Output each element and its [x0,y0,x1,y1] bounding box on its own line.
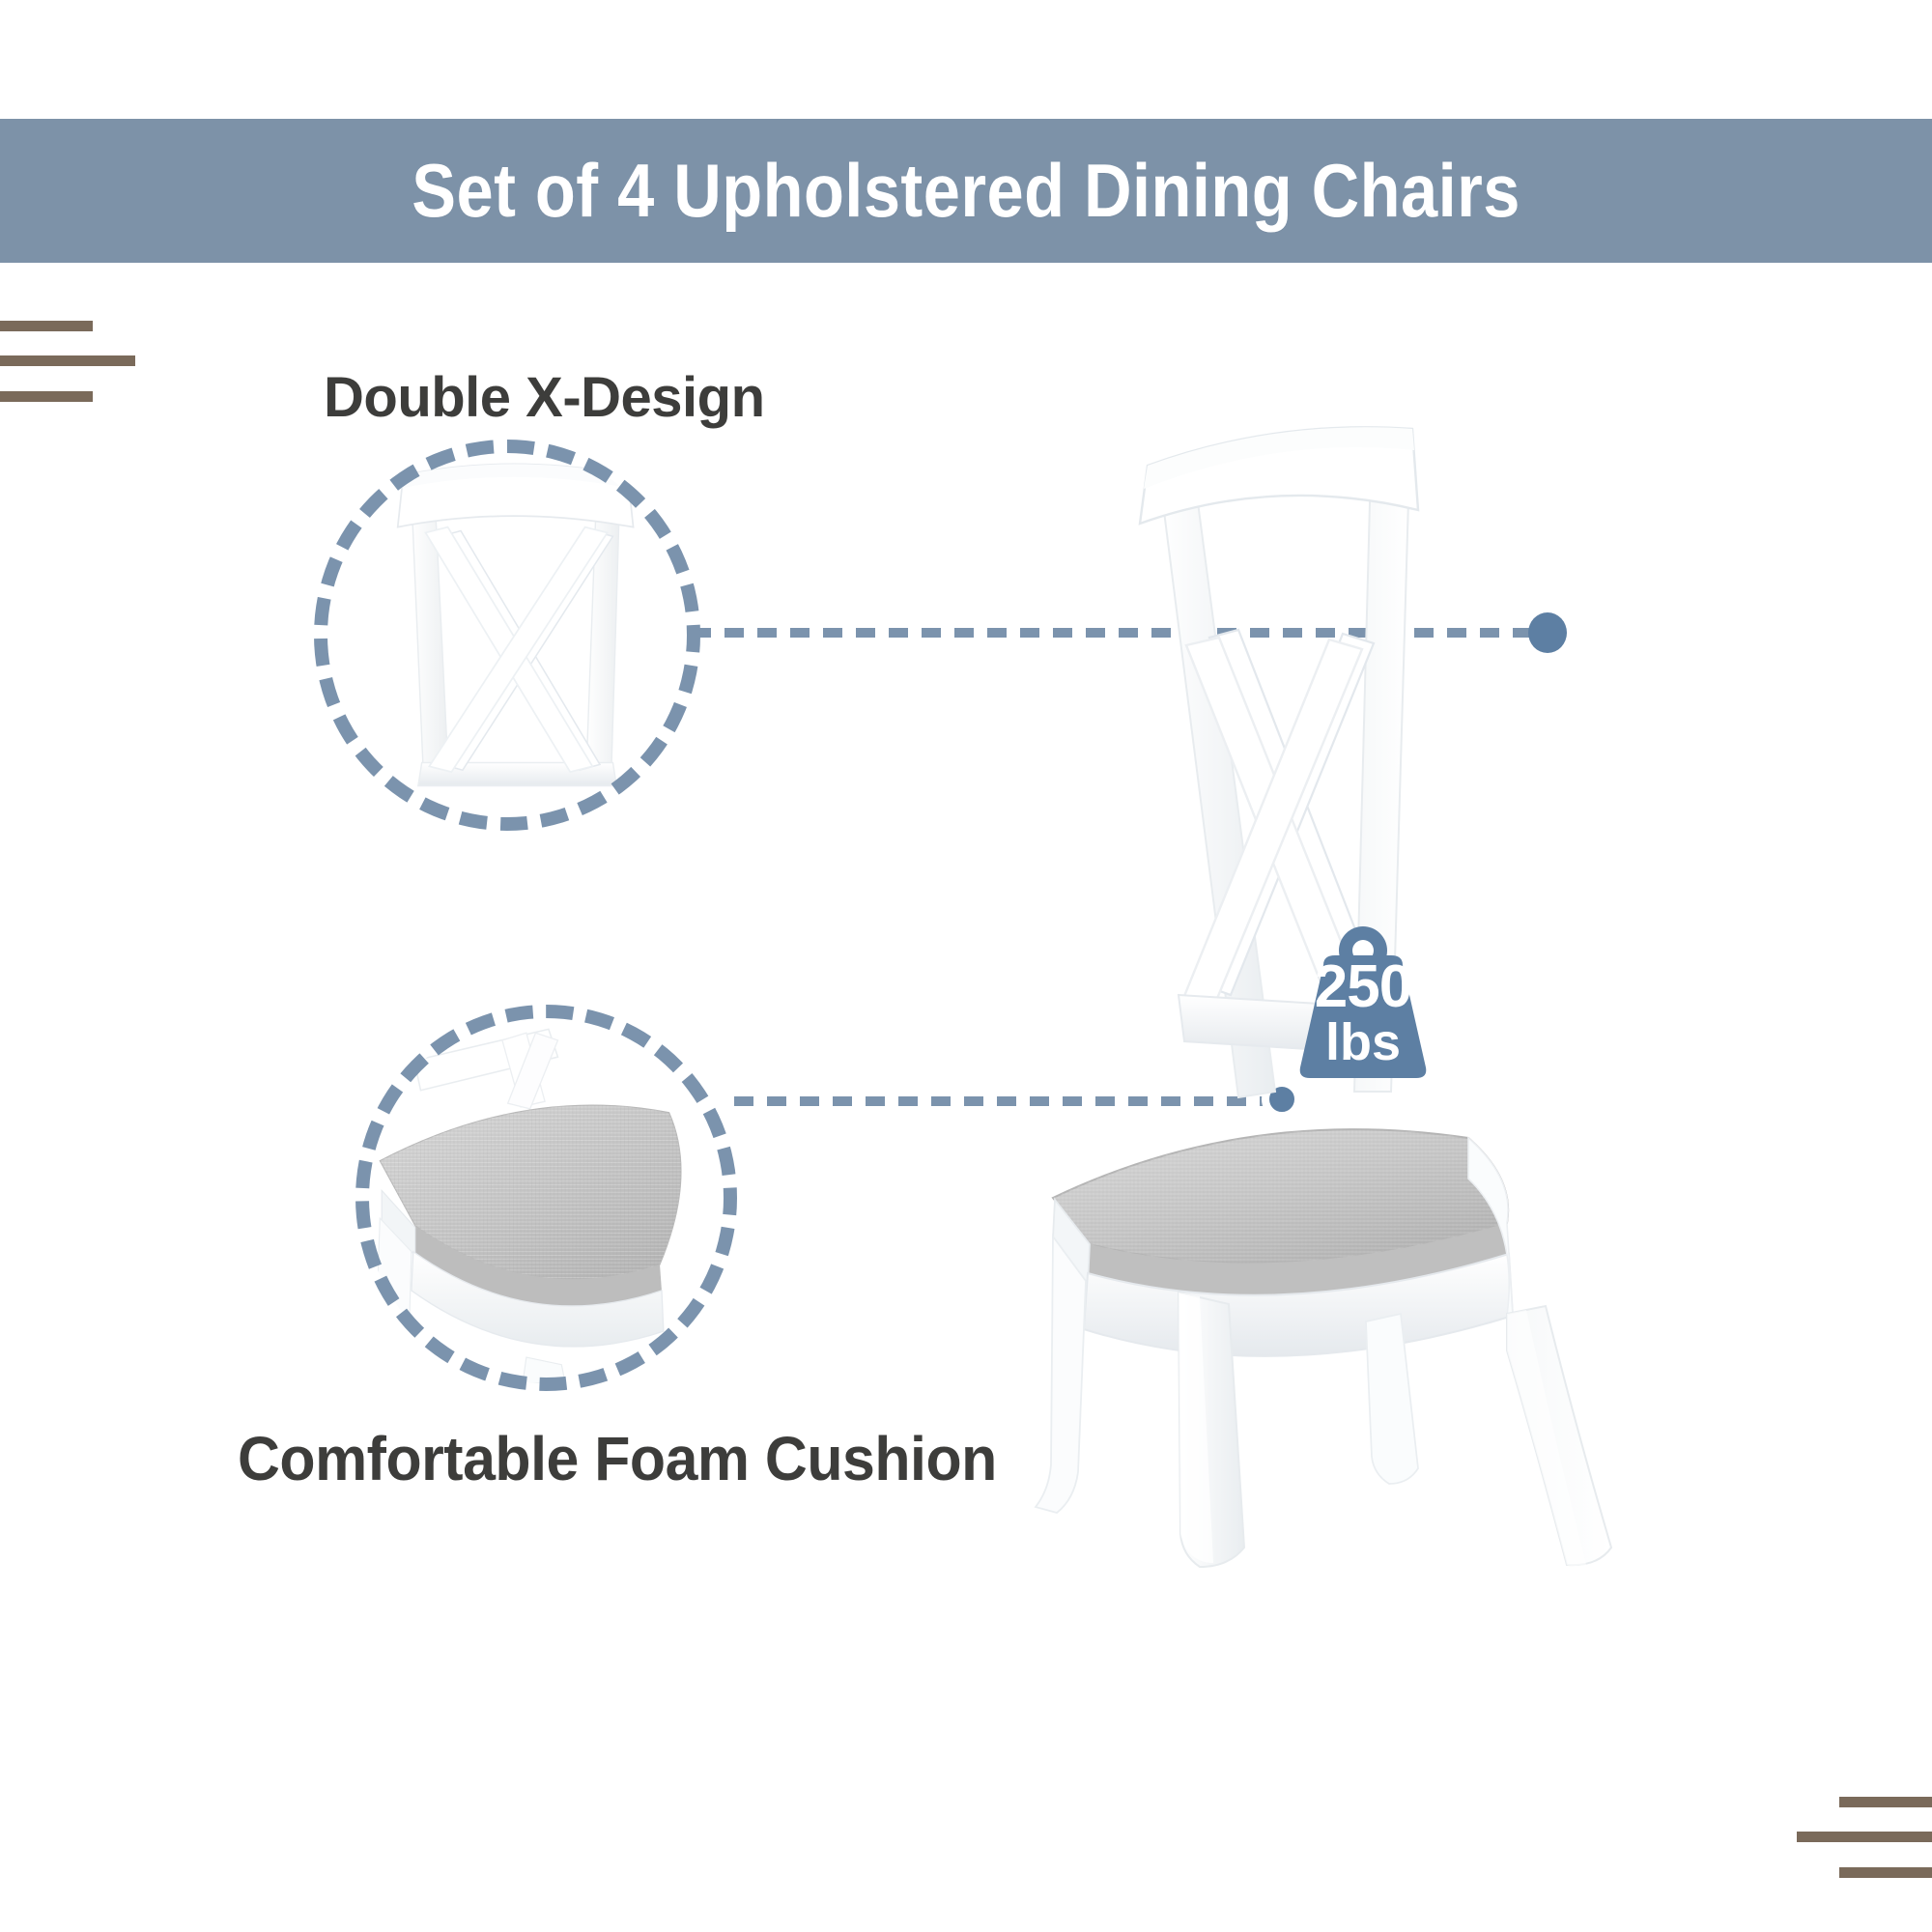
infographic-canvas: Set of 4 Upholstered Dining Chairs Doubl… [0,0,1932,1932]
decor-rule-top-left-1 [0,321,93,331]
chair-back-inset-illustration [322,447,693,823]
callout-inset-cushion [363,1012,729,1383]
decor-rule-bottom-right-2 [1797,1832,1932,1842]
feature-label-foam-cushion: Comfortable Foam Cushion [238,1423,997,1494]
seat-cushion-inset-illustration [363,1012,729,1383]
header-banner: Set of 4 Upholstered Dining Chairs [0,119,1932,263]
decor-rule-top-left-2 [0,355,135,366]
feature-label-double-x-design: Double X-Design [324,365,765,430]
weight-capacity-badge: 250 lbs [1291,923,1435,1082]
callout-inset-double-x [322,447,693,823]
callout-double-x-design [314,440,700,831]
decor-rule-top-left-3 [0,391,93,402]
page-title: Set of 4 Upholstered Dining Chairs [412,147,1520,235]
decor-rule-bottom-right-1 [1839,1797,1932,1807]
decor-rule-bottom-right-3 [1839,1867,1932,1878]
weight-icon [1291,923,1435,1082]
callout-foam-cushion [355,1005,737,1391]
